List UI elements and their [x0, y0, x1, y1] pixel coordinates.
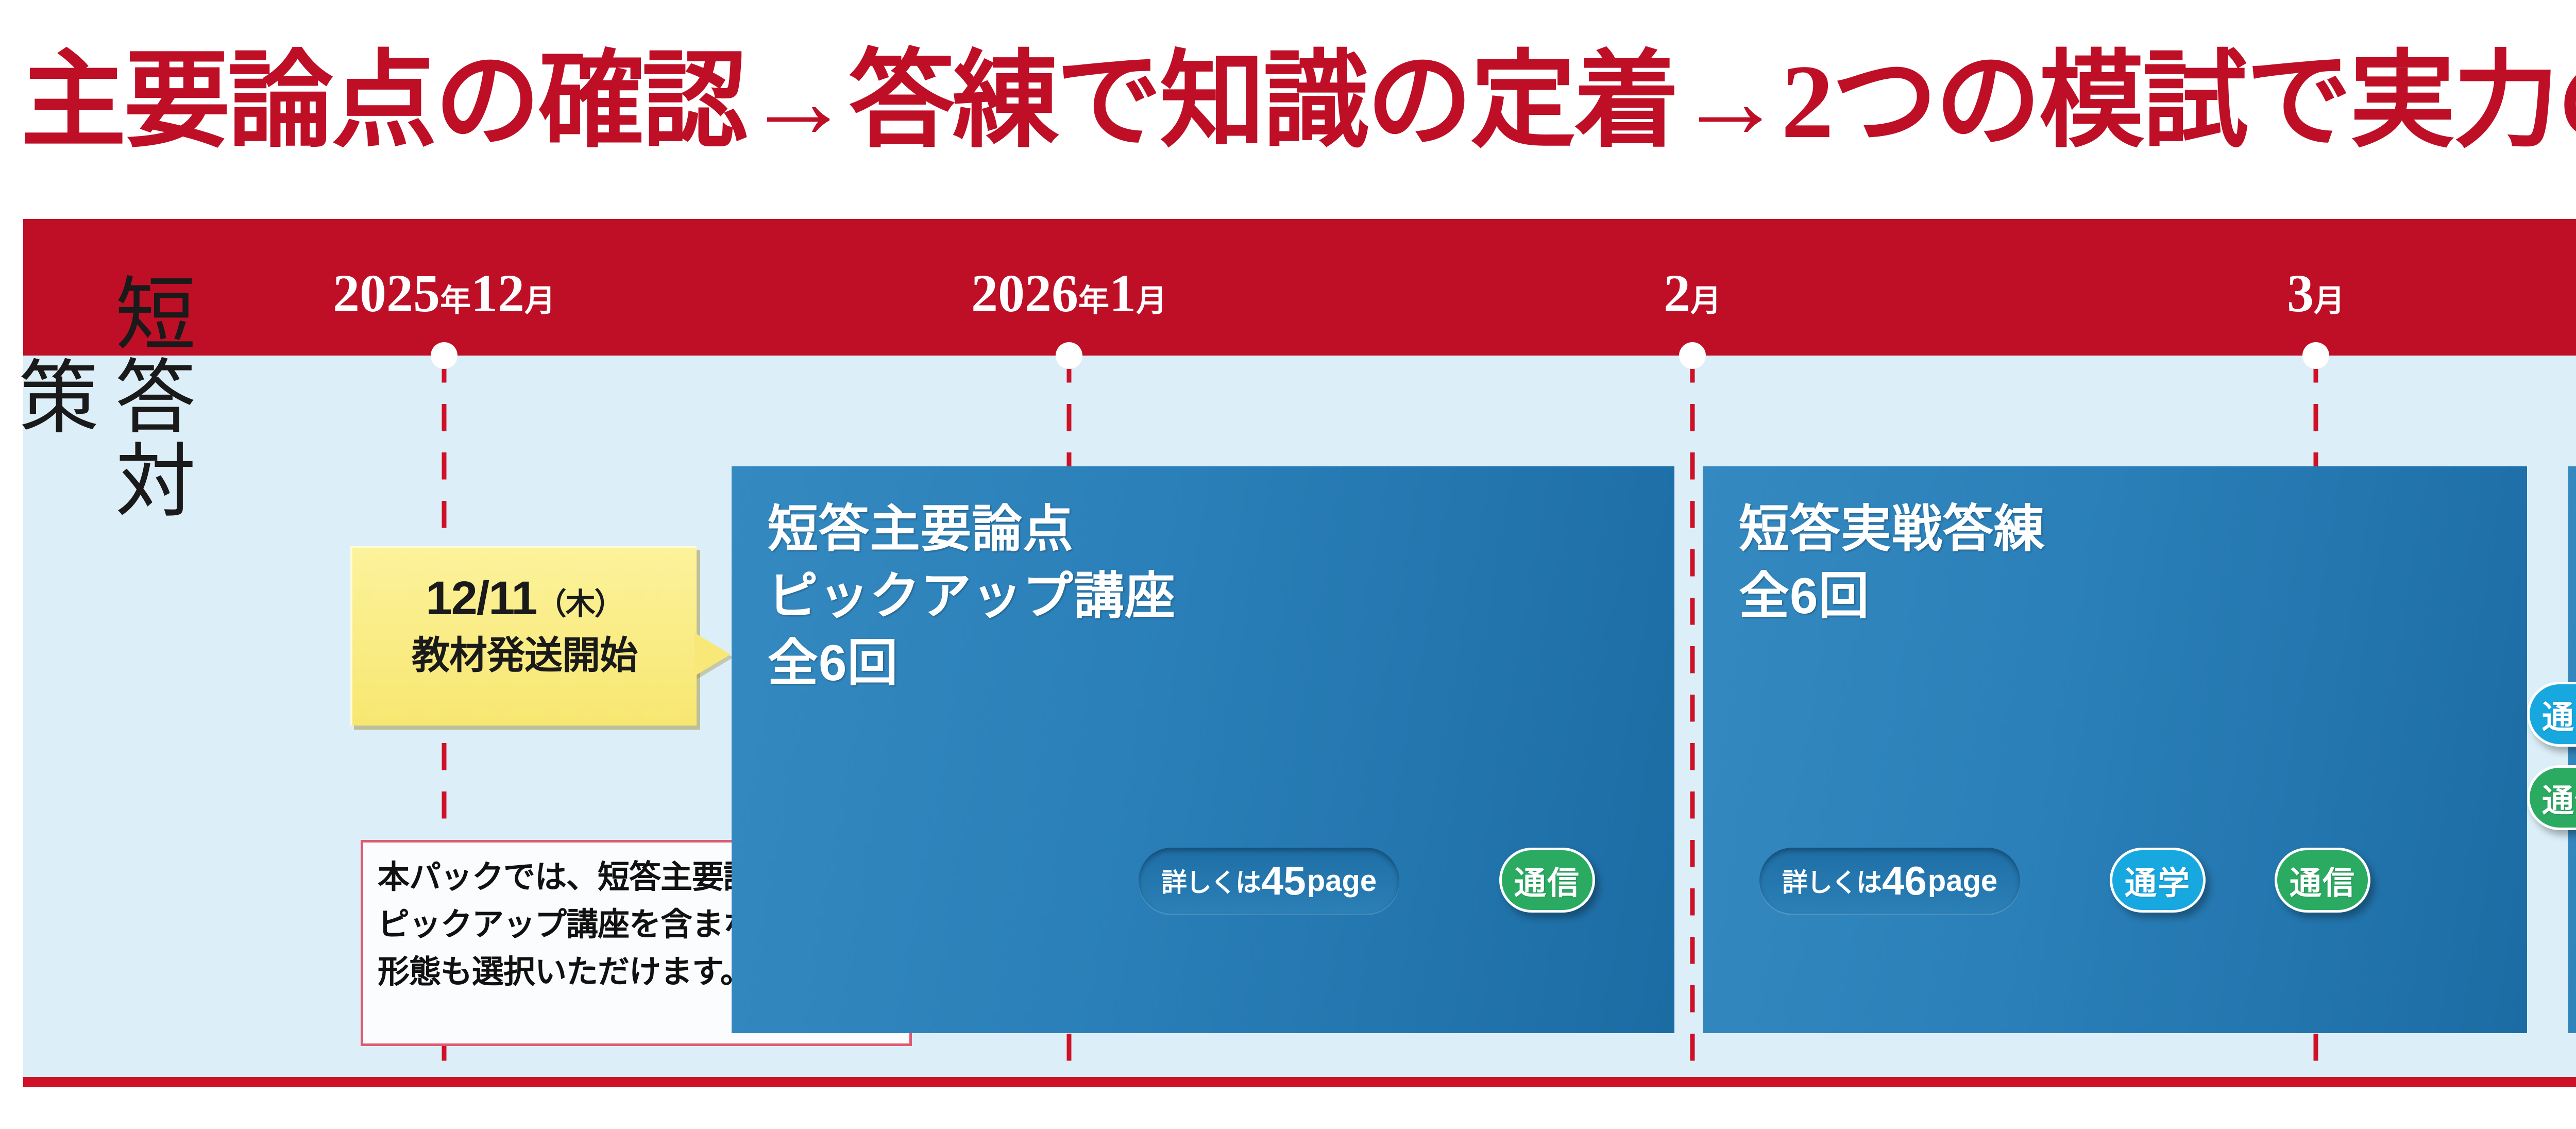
- pill-page-number: 45: [1261, 857, 1306, 904]
- callout-text: 教材発送開始: [352, 632, 697, 679]
- badge-tsushin[interactable]: 通信: [2275, 848, 2370, 913]
- pill-prefix: 詳しくは: [1161, 862, 1260, 899]
- month-year-unit: 年: [440, 284, 471, 318]
- card-title-line-2: 全6回: [1739, 562, 2527, 629]
- callout-date-line: 12/11（木）: [352, 571, 697, 632]
- callout-pointer-icon: [694, 633, 731, 676]
- timeline-guide-02: [1690, 356, 1695, 1077]
- badge-tsugaku[interactable]: 通学: [2110, 848, 2206, 913]
- page-headline: 主要論点の確認→答練で知識の定着→2つの模試で実力の確認ができる!: [21, 4, 2576, 200]
- month-year: 2025: [333, 264, 440, 323]
- month-year: 2026: [971, 264, 1078, 323]
- infographic-canvas: 主要論点の確認→答練で知識の定着→2つの模試で実力の確認ができる! 2025年1…: [0, 0, 2576, 1129]
- month-label-03: 3月: [2287, 219, 2345, 356]
- month-label-2026-01: 2026年1月: [971, 219, 1167, 356]
- timeline-dot-2026-01: [1056, 342, 1082, 369]
- month-unit: 月: [524, 284, 555, 318]
- badge-tsushin[interactable]: 通信: [1499, 848, 1595, 913]
- timeline-dot-03: [2302, 342, 2329, 369]
- card-title-line-2: ピックアップ講座: [768, 562, 1674, 629]
- pill-suffix: page: [1928, 864, 1997, 898]
- month-unit: 月: [2314, 284, 2345, 318]
- shipping-start-callout: 12/11（木） 教材発送開始: [350, 546, 697, 726]
- month-number: 2: [1664, 264, 1690, 323]
- card-title-line-1: 短答主要論点: [768, 495, 1674, 562]
- page-reference-pill[interactable]: 詳しくは45page: [1139, 848, 1399, 914]
- callout-date: 12/11: [426, 572, 536, 625]
- month-label-02: 2月: [1664, 219, 1721, 356]
- section-label-tanto-taisaku: 短答対策: [88, 232, 196, 562]
- card-title-line-1: 短答実戦答練: [1739, 495, 2527, 562]
- month-unit: 月: [1690, 284, 1721, 318]
- pill-page-number: 46: [1882, 857, 1927, 904]
- timeline-dot-2025-12: [431, 342, 457, 369]
- month-label-2025-12: 2025年12月: [333, 219, 555, 356]
- month-unit: 月: [1136, 284, 1167, 318]
- course-card-jissen-touren[interactable]: 短答実戦答練 全6回 詳しくは46page 通学 通信: [1703, 466, 2527, 1033]
- pill-suffix: page: [1307, 864, 1377, 898]
- course-card-pickup-kouza[interactable]: 短答主要論点 ピックアップ講座 全6回 詳しくは45page 通信: [732, 466, 1674, 1033]
- callout-weekday: （木）: [537, 587, 623, 621]
- month-number: 12: [471, 264, 524, 323]
- page-reference-pill[interactable]: 詳しくは46page: [1759, 848, 2020, 914]
- card-title-line-3: 全6回: [768, 629, 1674, 696]
- month-year-unit: 年: [1078, 284, 1109, 318]
- month-number: 3: [2287, 264, 2314, 323]
- timeline-dot-02: [1679, 342, 1706, 369]
- bottom-rule: [23, 1077, 2576, 1087]
- month-number: 1: [1109, 264, 1136, 323]
- pill-prefix: 詳しくは: [1782, 862, 1881, 899]
- course-card-pre-moshi[interactable]: 短答プレ模試 全2回 詳しくは47page 通学 通信: [2568, 466, 2576, 1033]
